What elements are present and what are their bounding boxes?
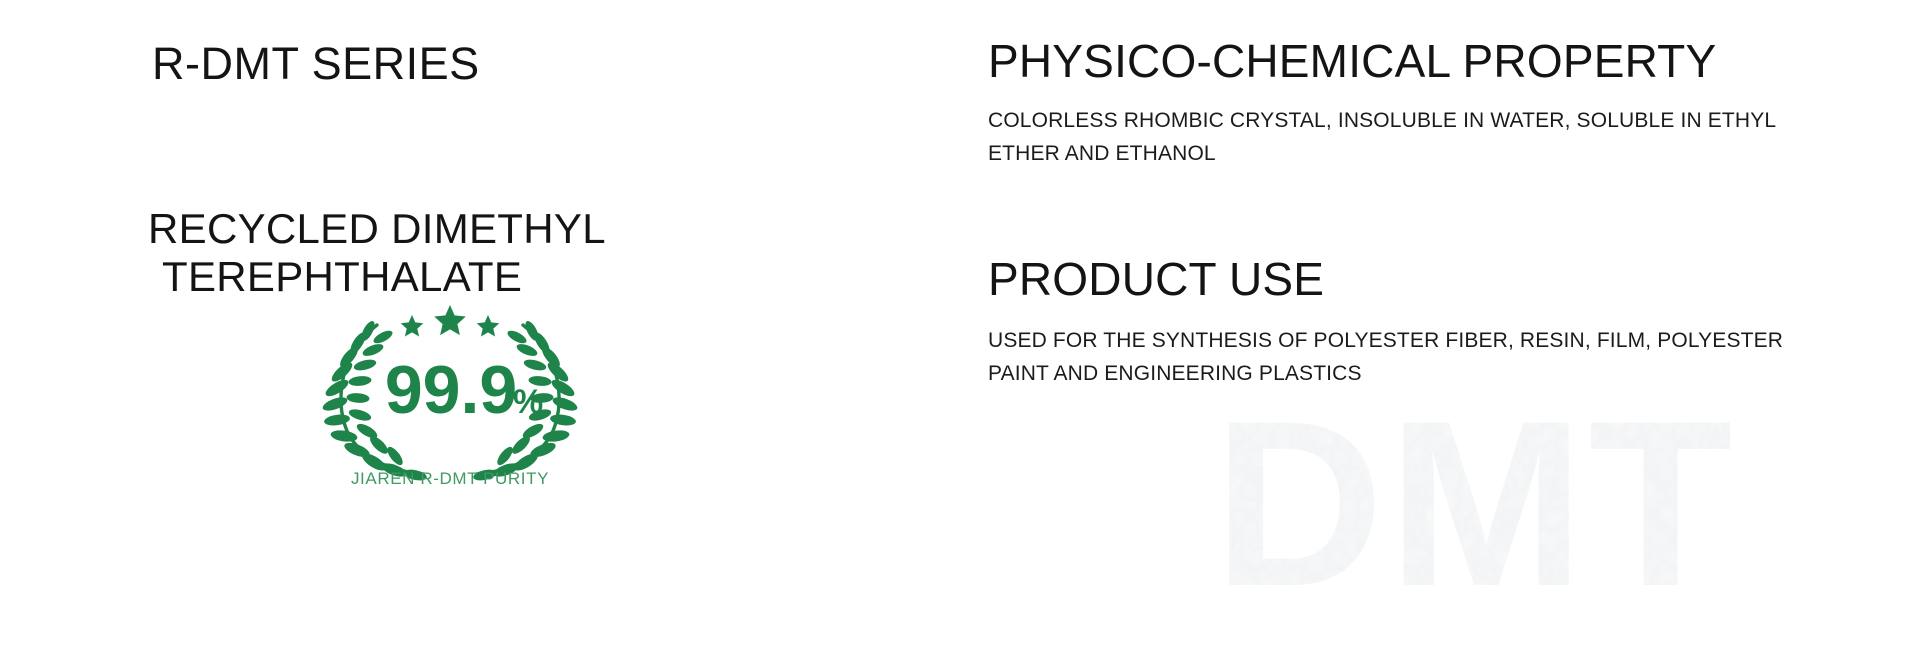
series-title: R-DMT SERIES <box>152 38 480 90</box>
physico-chemical-property-body: COLORLESS RHOMBIC CRYSTAL, INSOLUBLE IN … <box>988 104 1818 170</box>
right-column: PHYSICO-CHEMICAL PROPERTY COLORLESS RHOM… <box>960 0 1921 651</box>
star-icon-group <box>401 305 500 337</box>
product-use-heading: PRODUCT USE <box>988 252 1324 306</box>
purity-badge-caption: JIAREN R-DMT PURITY <box>265 468 635 490</box>
physico-chemical-property-body-line-1: COLORLESS RHOMBIC CRYSTAL, INSOLUBLE IN … <box>988 104 1818 137</box>
purity-value: 99.9 <box>385 352 517 428</box>
dmt-watermark-icon: DMT DMT <box>1125 389 1825 609</box>
product-use-body: USED FOR THE SYNTHESIS OF POLYESTER FIBE… <box>988 324 1818 390</box>
dmt-watermark: DMT DMT <box>1125 389 1825 609</box>
product-use-body-line-2: PAINT AND ENGINEERING PLASTICS <box>988 357 1818 390</box>
product-info-page: R-DMT SERIES RECYCLED DIMETHYL TEREPHTHA… <box>0 0 1921 651</box>
product-name-line-2: TEREPHTHALATE <box>148 253 848 301</box>
product-name-line-1: RECYCLED DIMETHYL <box>148 205 848 253</box>
product-name: RECYCLED DIMETHYL TEREPHTHALATE <box>148 205 848 301</box>
product-use-body-line-1: USED FOR THE SYNTHESIS OF POLYESTER FIBE… <box>988 324 1818 357</box>
laurel-wreath-icon: 99.9 % <box>265 305 635 485</box>
physico-chemical-property-body-line-2: ETHER AND ETHANOL <box>988 137 1818 170</box>
physico-chemical-property-heading: PHYSICO-CHEMICAL PROPERTY <box>988 34 1716 88</box>
left-column: R-DMT SERIES RECYCLED DIMETHYL TEREPHTHA… <box>0 0 960 651</box>
purity-unit: % <box>513 383 543 421</box>
